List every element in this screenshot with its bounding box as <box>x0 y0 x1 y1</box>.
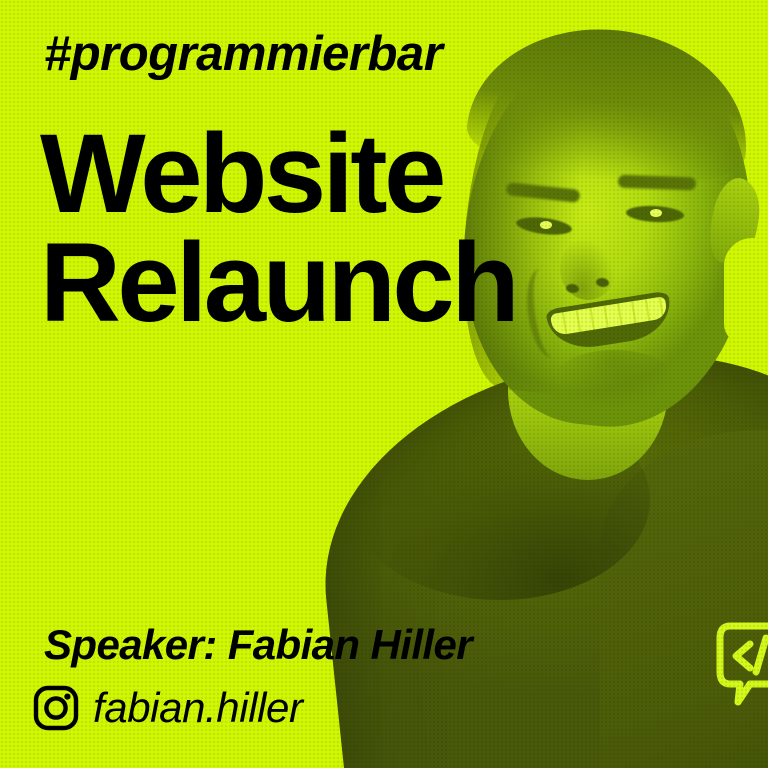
instagram-handle-text: fabian.hiller <box>93 687 303 729</box>
title-line-2: Relaunch <box>40 229 516 338</box>
podcast-episode-cover: #programmierbar Website Relaunch Speaker… <box>0 0 768 768</box>
speaker-name: Speaker: Fabian Hiller <box>44 624 472 666</box>
instagram-icon <box>32 684 80 732</box>
show-hashtag: #programmierbar <box>44 30 442 79</box>
instagram-handle-row: fabian.hiller <box>32 684 303 732</box>
title-line-1: Website <box>40 120 516 229</box>
text-content: #programmierbar Website Relaunch Speaker… <box>0 0 768 768</box>
page-title: Website Relaunch <box>40 120 516 337</box>
